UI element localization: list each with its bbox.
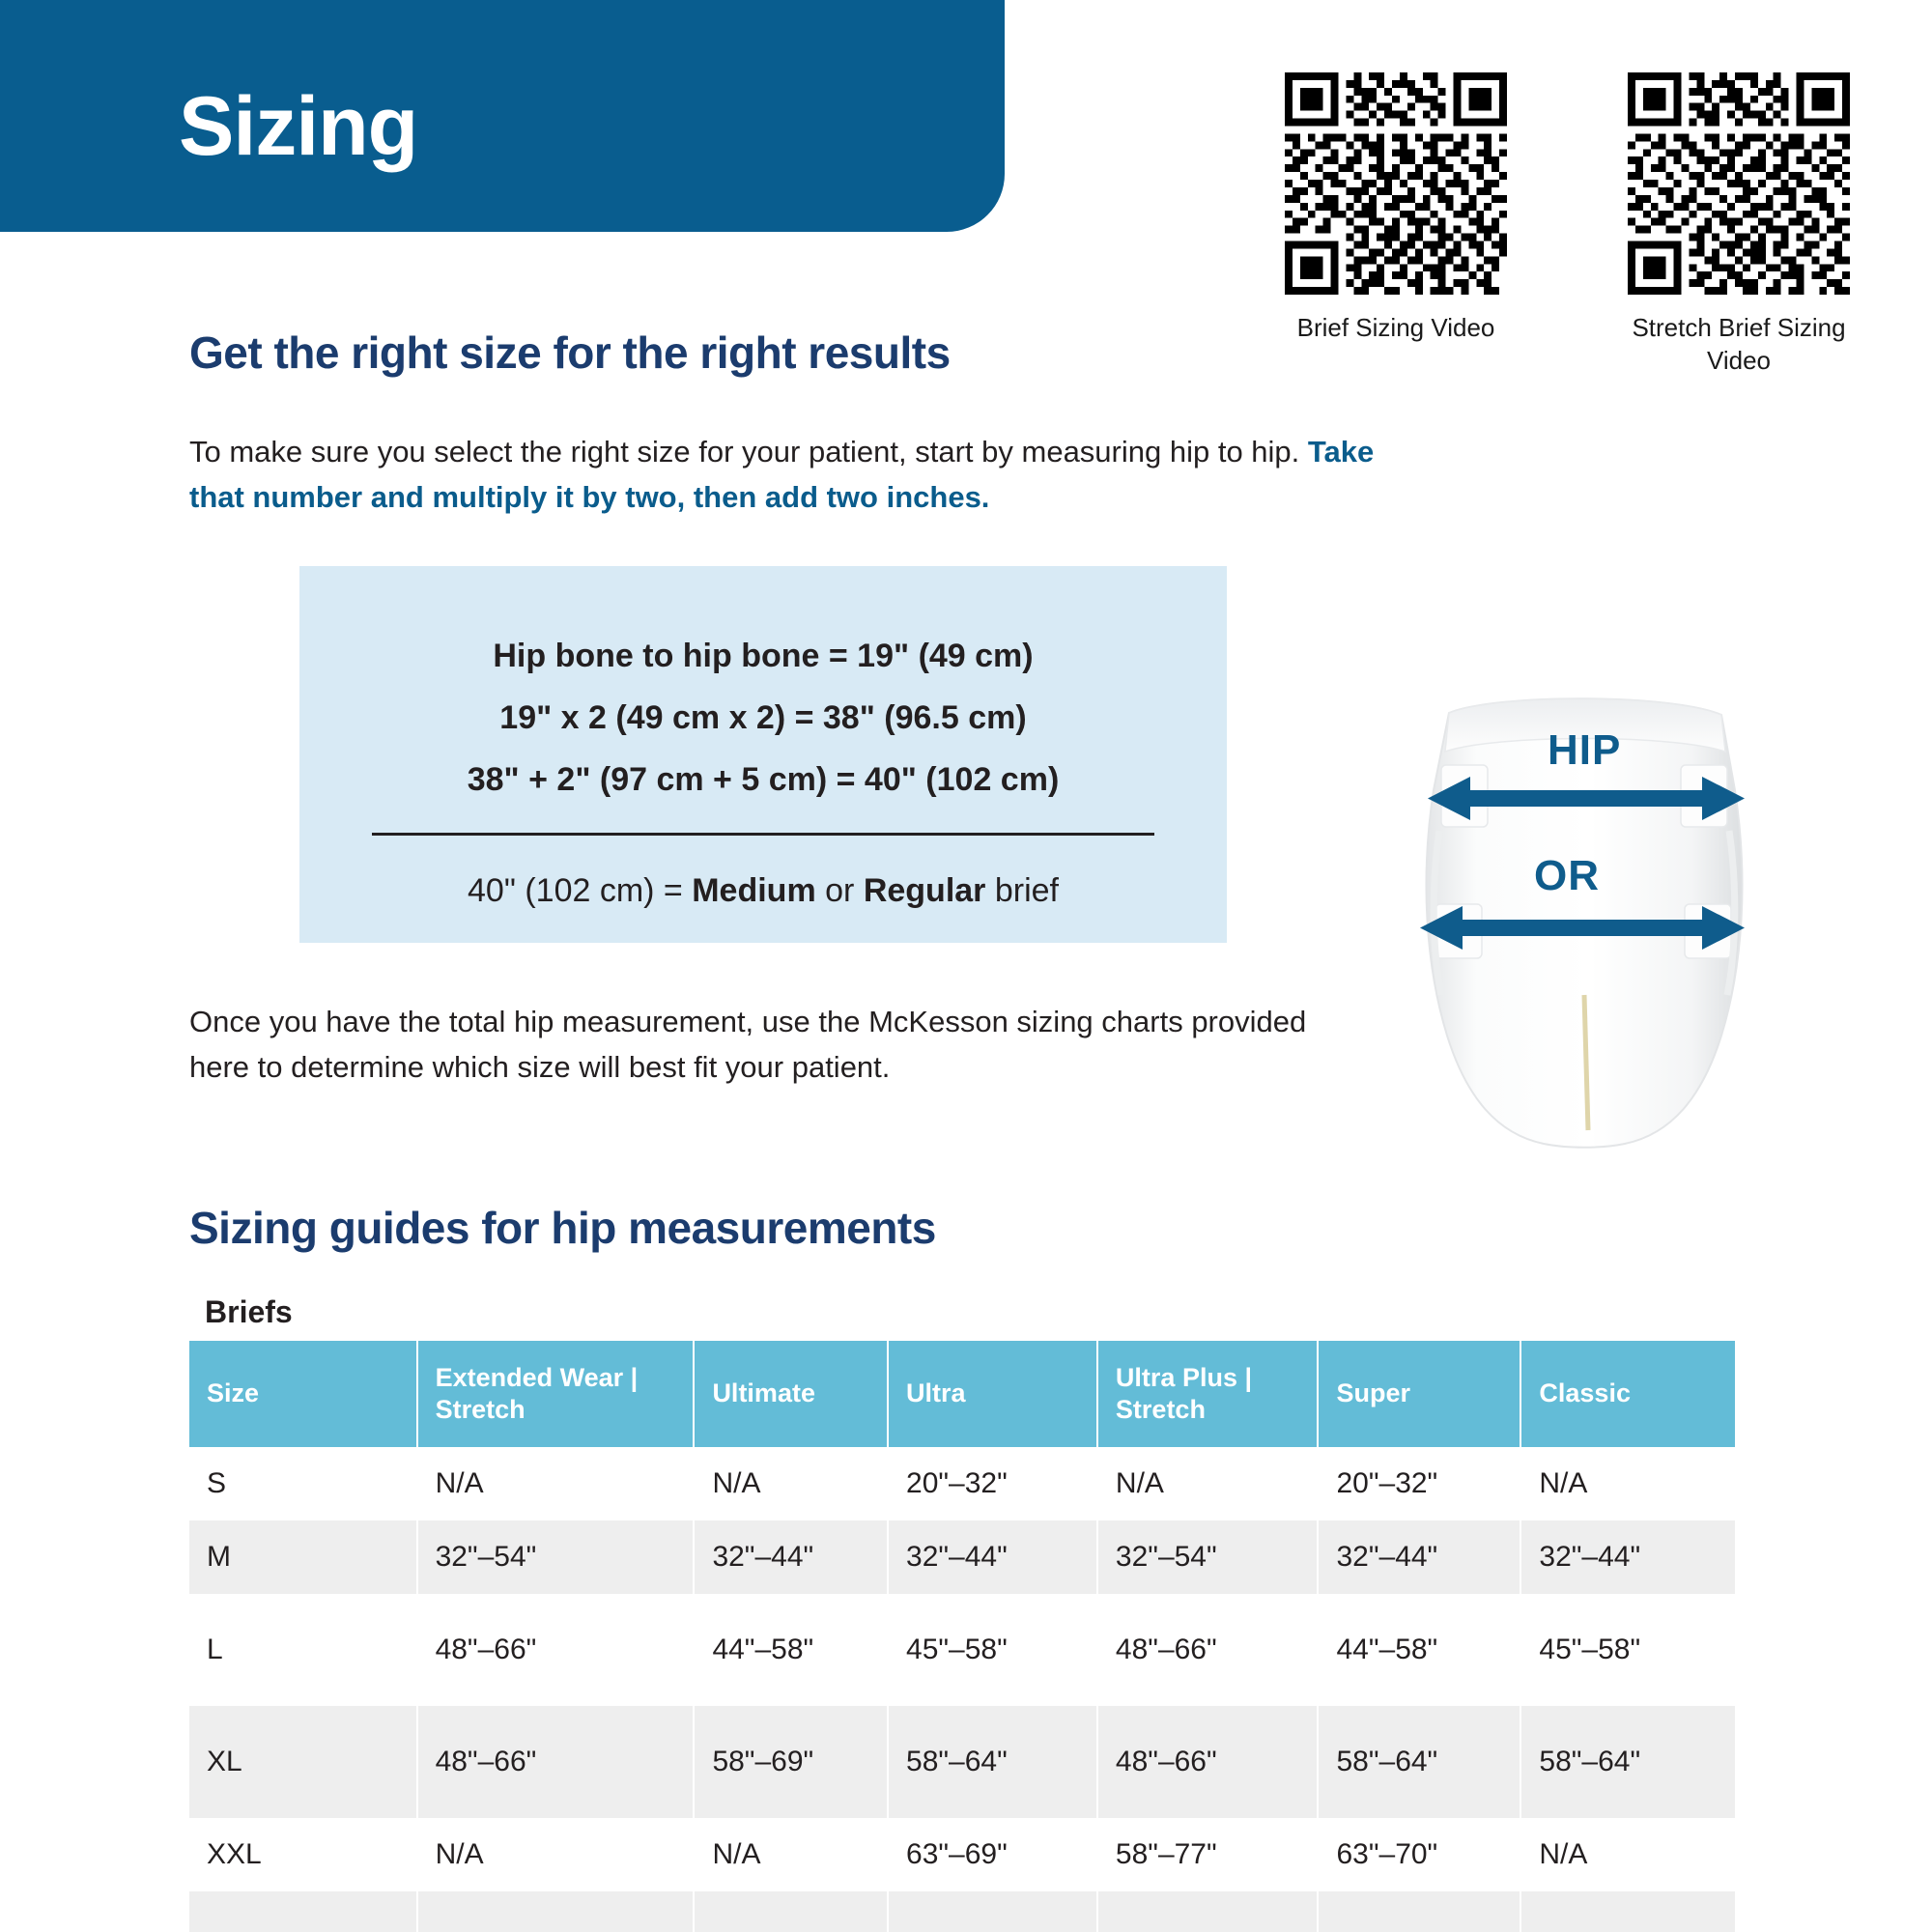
- table-row: XL 48"–66" 58"–69" 58"–64" 48"–66" 58"–6…: [189, 1706, 1735, 1818]
- cell-classic: 45"–58": [1520, 1594, 1735, 1706]
- cell-super: 32"–44": [1318, 1520, 1520, 1594]
- cell-ultra-plus: 32"–54": [1097, 1520, 1319, 1594]
- sizing-page: Sizing: [0, 0, 1932, 1932]
- after-paragraph: Once you have the total hip measurement,…: [189, 999, 1329, 1090]
- cell-size: Bariatric: [189, 1891, 417, 1932]
- cell-extended-wear: N/A: [417, 1447, 695, 1520]
- cell-size: XL: [189, 1706, 417, 1818]
- calc-line-3: 38" + 2" (97 cm + 5 cm) = 40" (102 cm): [299, 763, 1227, 796]
- cell-classic: 32"–44": [1520, 1520, 1735, 1594]
- cell-ultimate: 44"–58": [694, 1594, 888, 1706]
- cell-super: N/A: [1318, 1891, 1520, 1932]
- qr-caption: Stretch Brief Sizing Video: [1613, 312, 1864, 378]
- hip-label: HIP: [1548, 726, 1621, 775]
- cell-extended-wear: 48"–66": [417, 1594, 695, 1706]
- cell-size: L: [189, 1594, 417, 1706]
- cell-classic: N/A: [1520, 1447, 1735, 1520]
- calc-result: 40" (102 cm) = Medium or Regular brief: [299, 874, 1227, 907]
- cell-ultra: Up to 95" Waist: [888, 1891, 1097, 1932]
- cell-ultra: 63"–69": [888, 1818, 1097, 1891]
- table-row: M 32"–54" 32"–44" 32"–44" 32"–54" 32"–44…: [189, 1520, 1735, 1594]
- cell-size: S: [189, 1447, 417, 1520]
- column-header-super: Super: [1318, 1341, 1520, 1447]
- cell-ultra-plus: N/A: [1097, 1447, 1319, 1520]
- cell-ultra: 58"–64": [888, 1706, 1097, 1818]
- cell-extended-wear: 48"–66": [417, 1706, 695, 1818]
- cell-size: XXL: [189, 1818, 417, 1891]
- cell-super: 63"–70": [1318, 1818, 1520, 1891]
- cell-ultimate: N/A: [694, 1818, 888, 1891]
- cell-ultra: 32"–44": [888, 1520, 1097, 1594]
- cell-classic: 58"–64": [1520, 1706, 1735, 1818]
- calc-result-size: Medium: [692, 872, 815, 909]
- intro-paragraph-plain: To make sure you select the right size f…: [189, 435, 1308, 469]
- cell-classic: N/A: [1520, 1891, 1735, 1932]
- calc-result-alt-size: Regular: [864, 872, 986, 909]
- cell-super: 20"–32": [1318, 1447, 1520, 1520]
- column-header-ultimate: Ultimate: [694, 1341, 888, 1447]
- cell-super: 44"–58": [1318, 1594, 1520, 1706]
- cell-ultra: 20"–32": [888, 1447, 1097, 1520]
- calc-result-mid: or: [816, 872, 864, 909]
- page-title: Sizing: [179, 85, 417, 168]
- table-header-row: Size Extended Wear |Stretch Ultimate Ult…: [189, 1341, 1735, 1447]
- intro-paragraph: To make sure you select the right size f…: [189, 429, 1406, 520]
- briefs-sizing-table: Size Extended Wear |Stretch Ultimate Ult…: [189, 1341, 1735, 1932]
- column-header-ultra: Ultra: [888, 1341, 1097, 1447]
- cell-ultimate: N/A: [694, 1891, 888, 1932]
- column-header-size: Size: [189, 1341, 417, 1447]
- table-row: S N/A N/A 20"–32" N/A 20"–32" N/A: [189, 1447, 1735, 1520]
- column-header-extended-wear-stretch: Extended Wear |Stretch: [417, 1341, 695, 1447]
- cell-ultimate: 58"–69": [694, 1706, 888, 1818]
- qr-code-image[interactable]: [1285, 72, 1507, 295]
- calc-divider: [372, 833, 1154, 836]
- table-row: XXL N/A N/A 63"–69" 58"–77" 63"–70" N/A: [189, 1818, 1735, 1891]
- calc-result-prefix: 40" (102 cm) =: [468, 872, 692, 909]
- table-row: Bariatric N/A N/A Up to 95" Waist 58"–77…: [189, 1891, 1735, 1932]
- qr-code-brief-sizing-video[interactable]: Brief Sizing Video: [1285, 72, 1521, 345]
- cell-ultra-plus: 58"–77": [1097, 1891, 1319, 1932]
- calc-line-1: Hip bone to hip bone = 19" (49 cm): [299, 639, 1227, 672]
- column-header-classic: Classic: [1520, 1341, 1735, 1447]
- calc-line-2: 19" x 2 (49 cm x 2) = 38" (96.5 cm): [299, 701, 1227, 734]
- table-label-briefs: Briefs: [205, 1294, 293, 1330]
- cell-ultimate: N/A: [694, 1447, 888, 1520]
- calculation-box: Hip bone to hip bone = 19" (49 cm) 19" x…: [299, 566, 1227, 943]
- cell-extended-wear: N/A: [417, 1818, 695, 1891]
- cell-super: 58"–64": [1318, 1706, 1520, 1818]
- column-header-ultra-plus-stretch: Ultra Plus |Stretch: [1097, 1341, 1319, 1447]
- cell-classic: N/A: [1520, 1818, 1735, 1891]
- cell-ultimate: 32"–44": [694, 1520, 888, 1594]
- section-heading-right-size: Get the right size for the right results: [189, 327, 951, 379]
- cell-size: M: [189, 1520, 417, 1594]
- cell-extended-wear: N/A: [417, 1891, 695, 1932]
- header-banner: Sizing: [0, 0, 1005, 232]
- calc-result-suffix: brief: [985, 872, 1059, 909]
- qr-code-image[interactable]: [1628, 72, 1850, 295]
- section-heading-sizing-guides: Sizing guides for hip measurements: [189, 1202, 936, 1254]
- cell-ultra-plus: 48"–66": [1097, 1594, 1319, 1706]
- table-row: L 48"–66" 44"–58" 45"–58" 48"–66" 44"–58…: [189, 1594, 1735, 1706]
- cell-ultra-plus: 58"–77": [1097, 1818, 1319, 1891]
- qr-code-stretch-brief-sizing-video[interactable]: Stretch Brief Sizing Video: [1628, 72, 1864, 378]
- qr-caption: Brief Sizing Video: [1270, 312, 1521, 345]
- cell-ultra-plus: 48"–66": [1097, 1706, 1319, 1818]
- cell-ultra: 45"–58": [888, 1594, 1097, 1706]
- or-label: OR: [1534, 852, 1600, 900]
- cell-extended-wear: 32"–54": [417, 1520, 695, 1594]
- brief-illustration: HIP OR: [1381, 676, 1787, 1159]
